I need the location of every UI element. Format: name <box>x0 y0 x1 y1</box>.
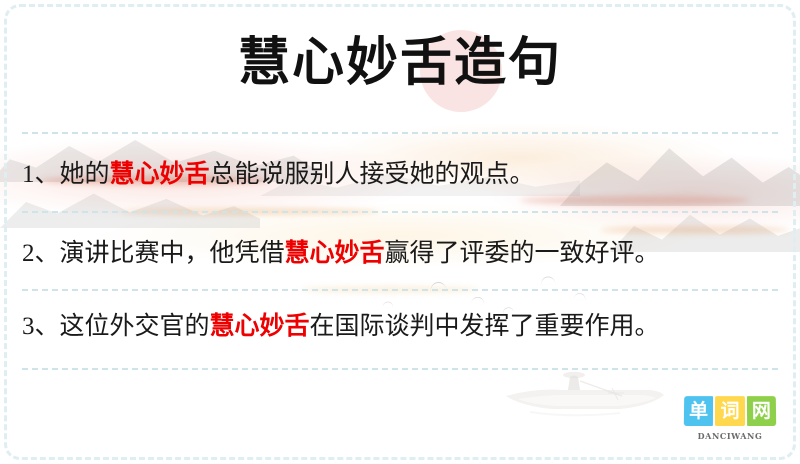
sentence-2-number: 2、 <box>22 240 60 267</box>
site-logo[interactable]: 单 词 网 DANCIWANG <box>684 396 776 444</box>
sentence-2-text-before: 演讲比赛中，他凭借 <box>60 240 285 267</box>
example-sentence-3: 3、这位外交官的慧心妙舌在国际谈判中发挥了重要作用。 <box>22 311 782 343</box>
divider-line <box>22 211 778 213</box>
sentence-2-text-after: 赢得了评委的一致好评。 <box>385 240 660 267</box>
divider-line <box>22 132 778 134</box>
logo-tile-2: 词 <box>715 396 744 426</box>
slide-canvas: 慧心妙舌造句 1、她的慧心妙舌总能说服别人接受她的观点。 2、演讲比赛中，他凭借… <box>0 0 800 464</box>
sentence-3-text-after: 在国际谈判中发挥了重要作用。 <box>310 313 660 340</box>
page-title: 慧心妙舌造句 <box>0 32 800 94</box>
sentence-1-number: 1、 <box>22 161 60 188</box>
sentence-3-number: 3、 <box>22 313 60 340</box>
sentence-1-text-after: 总能说服别人接受她的观点。 <box>210 161 535 188</box>
logo-tile-3: 网 <box>747 396 777 426</box>
sentence-3-keyword: 慧心妙舌 <box>210 313 310 340</box>
divider-line <box>22 289 778 291</box>
slide-content: 慧心妙舌造句 1、她的慧心妙舌总能说服别人接受她的观点。 2、演讲比赛中，他凭借… <box>0 0 800 464</box>
sentence-2-keyword: 慧心妙舌 <box>285 240 385 267</box>
sentence-3-text-before: 这位外交官的 <box>60 313 210 340</box>
logo-tiles: 单 词 网 <box>684 396 776 426</box>
logo-tile-1: 单 <box>684 396 714 426</box>
sentence-1-text-before: 她的 <box>60 161 110 188</box>
example-sentence-1: 1、她的慧心妙舌总能说服别人接受她的观点。 <box>22 159 782 191</box>
sentence-1-keyword: 慧心妙舌 <box>110 161 210 188</box>
example-sentence-2: 2、演讲比赛中，他凭借慧心妙舌赢得了评委的一致好评。 <box>22 238 782 270</box>
logo-subtitle: DANCIWANG <box>684 431 776 441</box>
divider-line <box>22 368 778 370</box>
